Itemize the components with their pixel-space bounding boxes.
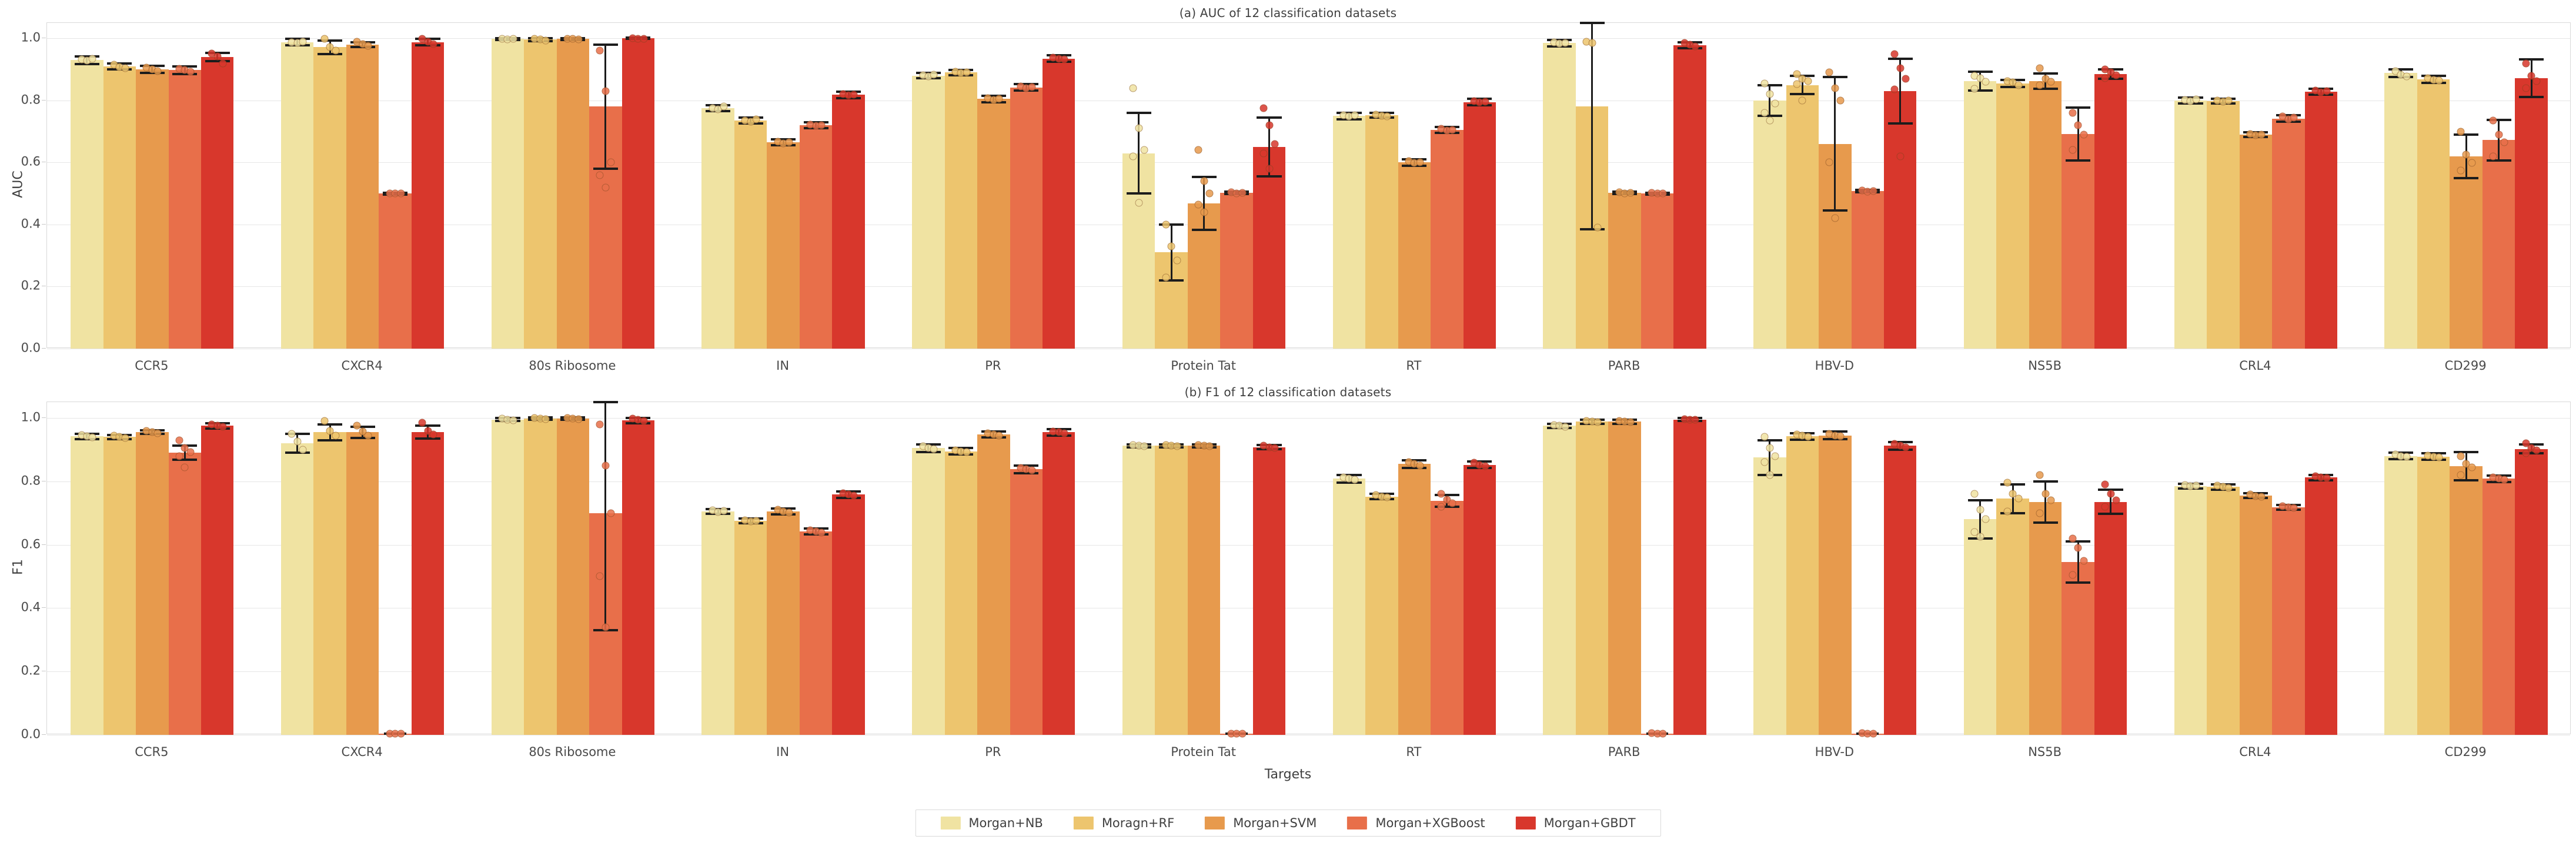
x-tick-label: CXCR4 [342, 360, 383, 372]
bar [2272, 507, 2304, 735]
bar [1333, 479, 1365, 735]
data-point [299, 446, 307, 453]
x-tick-label: HBV-D [1815, 360, 1854, 372]
bar [201, 57, 233, 349]
x-tick-label: Protein Tat [1171, 746, 1236, 758]
data-point [1238, 189, 1246, 196]
bar [1365, 497, 1398, 735]
error-bar-cap-top [1127, 112, 1151, 114]
data-point [419, 419, 426, 427]
data-point [1416, 461, 1424, 469]
data-point [596, 171, 604, 179]
data-point [2112, 71, 2120, 79]
error-bar-cap-top [2033, 480, 2058, 483]
data-point [332, 47, 339, 55]
bar [1398, 162, 1431, 349]
error-bar [2498, 120, 2500, 160]
data-point [2225, 97, 2233, 105]
bar [2483, 140, 2515, 349]
bar [767, 511, 799, 735]
bar [832, 95, 864, 349]
x-axis-title: Targets [0, 767, 2576, 782]
bar [1884, 446, 1916, 735]
y-tick-label: 0.4 [8, 218, 41, 230]
data-point [1826, 159, 1833, 166]
legend-item[interactable]: Morgan+NB [940, 816, 1043, 830]
bar [1852, 191, 1884, 349]
legend-label: Morgan+NB [968, 816, 1043, 830]
data-point [1162, 220, 1170, 228]
x-tick-label: Protein Tat [1171, 360, 1236, 372]
legend-item[interactable]: Moragn+RF [1074, 816, 1174, 830]
bar [1543, 426, 1575, 735]
data-point [2036, 471, 2044, 479]
data-point [1351, 476, 1358, 484]
data-point [1799, 96, 1806, 104]
x-tick-label: PR [985, 746, 1001, 758]
data-point [607, 159, 615, 166]
data-point [1902, 443, 1910, 451]
data-point [1976, 506, 1984, 514]
data-point [219, 59, 227, 67]
bar [622, 38, 654, 349]
error-bar-cap-bottom [415, 437, 440, 440]
data-point [1195, 146, 1202, 154]
data-point [2036, 64, 2044, 72]
bar [103, 437, 136, 735]
y-tick-mark [42, 100, 46, 101]
bar [912, 76, 944, 349]
data-point [1271, 444, 1278, 451]
data-point [602, 461, 609, 469]
bar [1964, 81, 1996, 349]
bar [2417, 457, 2450, 735]
bar [1220, 193, 1252, 349]
x-tick-label: CRL4 [2239, 746, 2271, 758]
subplot-auc: (a) AUC of 12 classification datasets AU… [0, 0, 2576, 382]
data-point [365, 431, 372, 439]
legend-item[interactable]: Morgan+SVM [1205, 816, 1317, 830]
error-bar-cap-top [1257, 116, 1281, 119]
data-point [1206, 190, 1214, 198]
data-point [1200, 178, 1208, 185]
data-point [186, 68, 194, 76]
bar [71, 60, 103, 349]
data-point [2403, 72, 2410, 80]
legend-label: Moragn+RF [1102, 816, 1174, 830]
data-point [1804, 433, 1812, 441]
data-point [1982, 78, 1990, 86]
data-point [1869, 187, 1877, 195]
bar [1753, 457, 1786, 735]
bar [2240, 496, 2272, 735]
data-point [2468, 159, 2475, 167]
data-point [429, 40, 437, 48]
bar [1253, 447, 1285, 735]
y-tick-mark [42, 607, 46, 608]
error-bar [604, 402, 606, 630]
bar [2207, 101, 2239, 349]
error-bar-cap-bottom [2454, 177, 2478, 179]
data-point [1561, 39, 1569, 46]
bar [2384, 73, 2417, 349]
bar [524, 419, 556, 735]
bar [1996, 499, 2029, 735]
bar [346, 432, 379, 735]
data-point [2003, 479, 2011, 487]
data-point [2403, 453, 2410, 460]
y-tick-mark [42, 348, 46, 349]
y-tick-label: 0.2 [8, 280, 41, 292]
bar [945, 72, 977, 349]
data-point [574, 415, 582, 423]
data-point [1135, 125, 1142, 132]
data-point [181, 463, 189, 471]
data-point [1766, 444, 1773, 452]
gridline [47, 349, 2570, 349]
error-bar-cap-top [1968, 499, 1993, 501]
y-tick-label: 0.8 [8, 474, 41, 487]
data-point [1826, 69, 1833, 76]
data-point [2495, 131, 2503, 138]
data-point [2257, 493, 2265, 500]
bar [2417, 79, 2450, 349]
bar [492, 39, 524, 349]
bar [1333, 116, 1365, 349]
y-tick-label: 0.6 [8, 538, 41, 550]
bar [2305, 477, 2337, 735]
data-point [2042, 490, 2049, 498]
y-tick-label: 1.0 [8, 411, 41, 423]
x-tick-label: CCR5 [135, 360, 168, 372]
x-tick-label: CXCR4 [342, 746, 383, 758]
data-point [542, 36, 550, 44]
data-point [2323, 474, 2330, 482]
data-point [1061, 429, 1068, 437]
data-point [1831, 84, 1839, 92]
bar [1043, 432, 1075, 735]
error-bar-cap-top [1823, 76, 1847, 78]
bar [1964, 519, 1996, 735]
data-point [1837, 433, 1845, 440]
bar [1398, 464, 1431, 735]
bar [701, 511, 734, 735]
error-bar-cap-bottom [2454, 479, 2478, 481]
data-point [2192, 95, 2200, 103]
data-point [175, 436, 183, 444]
data-point [850, 91, 858, 99]
legend-swatch [1074, 817, 1094, 829]
data-point [2074, 544, 2082, 551]
data-point [607, 509, 615, 517]
data-point [1238, 730, 1246, 738]
bar [379, 193, 411, 349]
data-point [596, 573, 604, 580]
data-point [720, 507, 727, 515]
x-tick-label: 80s Ribosome [529, 360, 616, 372]
data-point [596, 47, 604, 55]
bar [2029, 81, 2062, 349]
data-point [1384, 493, 1391, 501]
subplot-a-title: (a) AUC of 12 classification datasets [0, 6, 2576, 20]
bar [832, 494, 864, 735]
bar [1641, 193, 1673, 349]
bar [1786, 85, 1819, 349]
data-point [1173, 442, 1181, 450]
error-bar-cap-bottom [2519, 96, 2544, 98]
legend-item[interactable]: Morgan+GBDT [1516, 816, 1636, 830]
data-point [1626, 418, 1634, 426]
error-bar-cap-bottom [318, 53, 342, 55]
data-point [596, 420, 604, 428]
figure-root: (a) AUC of 12 classification datasets AU… [0, 0, 2576, 863]
y-tick-mark [42, 38, 46, 38]
data-point [1351, 112, 1358, 119]
data-point [1760, 109, 1768, 117]
data-point [509, 35, 517, 42]
data-point [1130, 152, 1137, 160]
bar [2450, 156, 2482, 349]
data-point [1760, 79, 1768, 87]
data-point [602, 623, 609, 631]
x-tick-label: CRL4 [2239, 360, 2271, 372]
bar [1673, 420, 1706, 735]
data-point [288, 430, 296, 437]
data-point [1772, 100, 1779, 108]
data-point [1760, 459, 1768, 466]
subplot-f1: (b) F1 of 12 classification datasets F1 … [0, 372, 2576, 784]
data-point [1659, 189, 1667, 197]
data-point [1271, 140, 1278, 148]
legend-item[interactable]: Morgan+XGBoost [1347, 816, 1485, 830]
bar [169, 70, 201, 349]
subplot-b-title: (b) F1 of 12 classification datasets [0, 385, 2576, 399]
data-point [640, 35, 647, 42]
y-tick-mark [42, 286, 46, 286]
data-point [1481, 98, 1489, 106]
data-point [2107, 490, 2114, 498]
data-point [930, 445, 938, 453]
bar [2483, 479, 2515, 735]
error-bar [604, 45, 606, 169]
data-point [2257, 131, 2265, 138]
data-point [2003, 507, 2011, 515]
x-tick-label: IN [776, 360, 789, 372]
x-tick-label: RT [1406, 360, 1421, 372]
data-point [1135, 199, 1142, 207]
data-point [1168, 242, 1175, 250]
error-bar-cap-bottom [2033, 521, 2058, 524]
bar [1464, 465, 1496, 735]
data-point [995, 431, 1003, 439]
data-point [2457, 452, 2464, 460]
data-point [2101, 74, 2109, 82]
data-point [2069, 109, 2076, 117]
data-point [1438, 503, 1445, 510]
data-point [1831, 215, 1839, 222]
data-point [1692, 416, 1699, 424]
error-bar-cap-top [1888, 58, 1913, 60]
data-point [1891, 86, 1899, 93]
bar [346, 45, 379, 349]
data-point [1766, 91, 1773, 98]
bar [103, 66, 136, 349]
data-point [1481, 462, 1489, 470]
data-point [2069, 571, 2076, 578]
data-point [542, 416, 550, 423]
data-point [2036, 81, 2044, 89]
x-tick-label: CCR5 [135, 746, 168, 758]
data-point [175, 452, 183, 460]
y-tick-label: 0.6 [8, 156, 41, 168]
bar [800, 531, 832, 735]
bar [2029, 502, 2062, 735]
data-point [89, 55, 96, 63]
y-tick-label: 0.0 [8, 342, 41, 354]
legend-label: Morgan+SVM [1233, 816, 1317, 830]
x-tick-label: HBV-D [1815, 746, 1854, 758]
error-bar-cap-bottom [2487, 159, 2511, 162]
legend-swatch [940, 817, 960, 829]
data-point [1206, 442, 1214, 450]
bar [622, 420, 654, 735]
x-tick-label: IN [776, 746, 789, 758]
legend-swatch [1205, 817, 1225, 829]
bar [1188, 446, 1220, 735]
data-point [2457, 471, 2464, 479]
y-tick-mark [42, 734, 46, 735]
bar [1673, 45, 1706, 349]
data-point [397, 730, 405, 738]
data-point [397, 190, 405, 198]
error-bar [1171, 225, 1172, 280]
data-point [753, 116, 760, 123]
error-bar [1769, 85, 1770, 116]
data-point [2225, 484, 2233, 491]
bar [2515, 449, 2547, 735]
data-point [2290, 114, 2298, 122]
data-point [1896, 152, 1904, 160]
data-point [1793, 81, 1800, 88]
legend-label: Morgan+XGBoost [1375, 816, 1485, 830]
bar [412, 42, 444, 349]
data-point [2074, 122, 2082, 129]
data-point [1594, 419, 1602, 426]
data-point [1588, 39, 1596, 47]
bar [2062, 134, 2094, 349]
bar [1010, 88, 1043, 349]
data-point [2069, 146, 2076, 154]
error-bar [1591, 23, 1593, 229]
data-point [2522, 450, 2530, 457]
error-bar-cap-top [2066, 106, 2090, 109]
error-bar [1203, 177, 1205, 230]
data-point [1260, 105, 1268, 112]
data-point [2463, 151, 2470, 159]
x-tick-label: CD299 [2445, 360, 2487, 372]
error-bar [2077, 108, 2079, 160]
bar [201, 426, 233, 735]
bar [2240, 135, 2272, 349]
bar [313, 432, 346, 735]
data-point [1265, 165, 1273, 172]
data-point [2522, 84, 2530, 92]
error-bar [1834, 77, 1836, 210]
legend: Morgan+NBMoragn+RFMorgan+SVMMorgan+XGBoo… [915, 810, 1660, 837]
data-point [2112, 497, 2120, 504]
bar [2384, 456, 2417, 735]
data-point [2069, 534, 2076, 542]
x-tick-label: RT [1406, 746, 1421, 758]
error-bar-cap-bottom [318, 439, 342, 441]
data-point [1173, 256, 1181, 264]
bar [492, 420, 524, 735]
bar [912, 448, 944, 735]
bar [281, 42, 313, 349]
bar [1431, 130, 1463, 349]
x-tick-label: PARB [1608, 360, 1641, 372]
data-point [2457, 128, 2464, 135]
bar [1819, 436, 1851, 735]
data-point [574, 35, 582, 43]
data-point [1772, 452, 1779, 460]
error-bar [2012, 484, 2014, 513]
data-point [186, 449, 194, 456]
data-point [320, 35, 328, 43]
data-point [332, 431, 339, 439]
y-tick-mark [42, 417, 46, 418]
bar [1576, 422, 1608, 735]
y-tick-mark [42, 544, 46, 545]
data-point [1766, 471, 1773, 479]
y-tick-label: 0.8 [8, 93, 41, 106]
data-point [1626, 189, 1634, 197]
data-point [1982, 516, 1990, 523]
data-point [320, 417, 328, 425]
error-bar-cap-bottom [2033, 88, 2058, 90]
y-tick-label: 0.0 [8, 728, 41, 741]
data-point [2192, 482, 2200, 490]
data-point [1141, 443, 1148, 450]
data-point [219, 423, 227, 431]
data-point [1659, 730, 1667, 737]
data-point [930, 71, 938, 79]
y-tick-mark [42, 162, 46, 162]
error-bar [2044, 481, 2046, 523]
data-point [1061, 56, 1068, 63]
error-bar-cap-bottom [2066, 159, 2090, 162]
data-point [2490, 152, 2497, 160]
error-bar-cap-bottom [1888, 122, 1913, 125]
bar [136, 69, 168, 349]
data-point [1804, 78, 1812, 85]
data-point [1449, 500, 1456, 507]
data-point [1416, 159, 1424, 166]
bar [2305, 92, 2337, 349]
data-point [213, 52, 221, 60]
x-tick-label: PARB [1608, 746, 1641, 758]
bar [169, 453, 201, 735]
data-point [1130, 84, 1137, 92]
bar [2094, 74, 2127, 349]
data-point [299, 38, 307, 45]
error-bar-cap-bottom [1192, 229, 1217, 231]
data-point [1265, 122, 1273, 129]
bar [1884, 91, 1916, 349]
data-point [2080, 557, 2087, 564]
bar [800, 125, 832, 349]
data-point [2490, 117, 2497, 125]
